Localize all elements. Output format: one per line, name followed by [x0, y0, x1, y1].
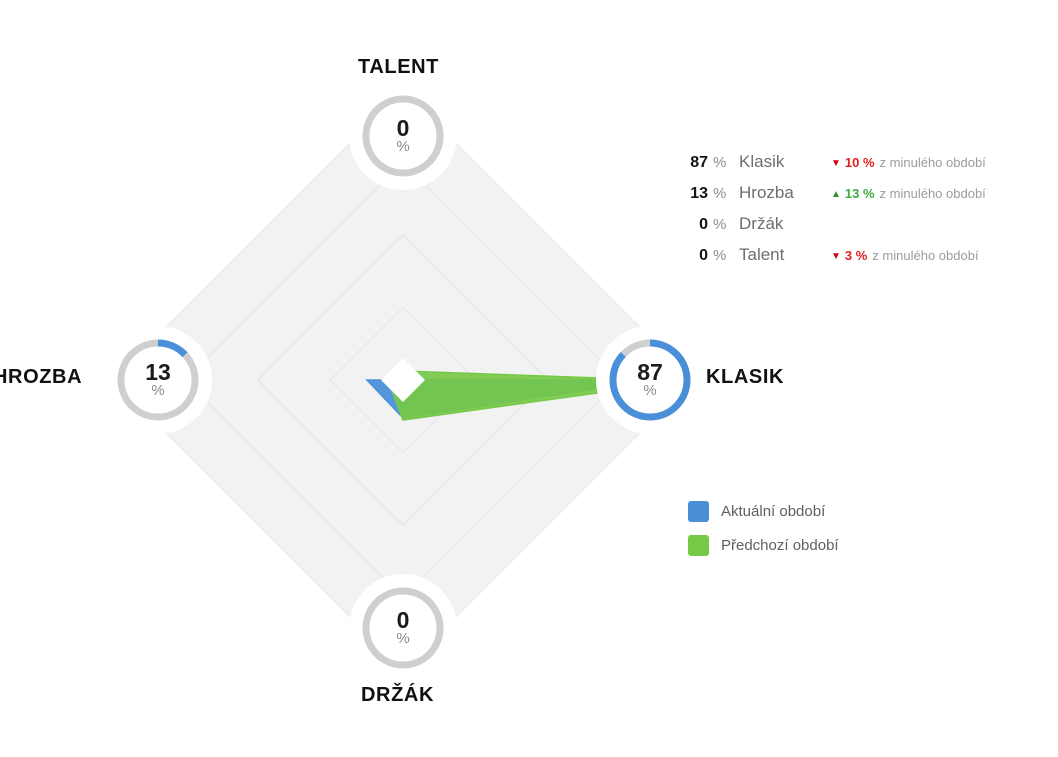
- legend-item-previous[interactable]: Předchozí období: [688, 528, 839, 562]
- gauge-drzak-svg: [355, 580, 451, 676]
- axis-title-hrozba: HROZBA: [0, 366, 82, 389]
- stats-value: 13: [680, 185, 708, 203]
- stats-value: 0: [680, 216, 708, 234]
- axis-title-drzak: DRŽÁK: [361, 684, 434, 707]
- stats-name: Hrozba: [739, 183, 831, 203]
- stats-value: 87: [680, 154, 708, 172]
- stats-name: Držák: [739, 214, 831, 234]
- gauge-klasik-svg: [602, 332, 698, 428]
- stats-delta-text: z minulého období: [880, 155, 986, 170]
- trend-down-icon: ▼: [831, 157, 841, 170]
- stats-delta: ▼ 10 % z minulého období: [831, 155, 986, 171]
- stats-delta: ▲ 13 % z minulého období: [831, 186, 986, 202]
- stats-delta-value: 3 %: [845, 248, 867, 263]
- legend-swatch-current: [688, 501, 709, 522]
- stats-row: 87 % Klasik ▼ 10 % z minulého období: [680, 152, 1040, 183]
- stats-unit: %: [708, 154, 739, 171]
- stats-value: 0: [680, 247, 708, 265]
- stats-delta: ▼ 3 % z minulého období: [831, 248, 979, 264]
- stats-row: 0 % Držák: [680, 214, 1040, 245]
- stats-row: 13 % Hrozba ▲ 13 % z minulého období: [680, 183, 1040, 214]
- stats-delta-text: z minulého období: [880, 186, 986, 201]
- gauge-klasik[interactable]: 87 %: [602, 332, 698, 428]
- stats-list: 87 % Klasik ▼ 10 % z minulého období 13 …: [680, 152, 1040, 276]
- gauge-hrozba[interactable]: 13 %: [110, 332, 206, 428]
- gauge-talent-svg: [355, 88, 451, 184]
- legend-label-previous: Předchozí období: [721, 537, 839, 554]
- legend-item-current[interactable]: Aktuální období: [688, 494, 839, 528]
- trend-up-icon: ▲: [831, 188, 841, 201]
- stats-name: Talent: [739, 245, 831, 265]
- chart-legend: Aktuální období Předchozí období: [688, 494, 839, 562]
- stats-row: 0 % Talent ▼ 3 % z minulého období: [680, 245, 1040, 276]
- axis-title-klasik: KLASIK: [706, 366, 784, 389]
- gauge-drzak[interactable]: 0 %: [355, 580, 451, 676]
- stats-delta-value: 10 %: [845, 155, 875, 170]
- radar-chart: TALENT KLASIK DRŽÁK HROZBA 0 % 87: [0, 0, 660, 757]
- gauge-talent[interactable]: 0 %: [355, 88, 451, 184]
- stats-name: Klasik: [739, 152, 831, 172]
- stats-delta-text: z minulého období: [872, 248, 978, 263]
- legend-swatch-previous: [688, 535, 709, 556]
- radar-chart-svg: [0, 0, 660, 757]
- stats-unit: %: [708, 247, 739, 264]
- stats-unit: %: [708, 185, 739, 202]
- legend-label-current: Aktuální období: [721, 503, 825, 520]
- chart-canvas: TALENT KLASIK DRŽÁK HROZBA 0 % 87: [0, 0, 1058, 757]
- stats-delta-value: 13 %: [845, 186, 875, 201]
- gauge-hrozba-svg: [110, 332, 206, 428]
- trend-down-icon: ▼: [831, 250, 841, 263]
- axis-title-talent: TALENT: [358, 56, 439, 79]
- stats-unit: %: [708, 216, 739, 233]
